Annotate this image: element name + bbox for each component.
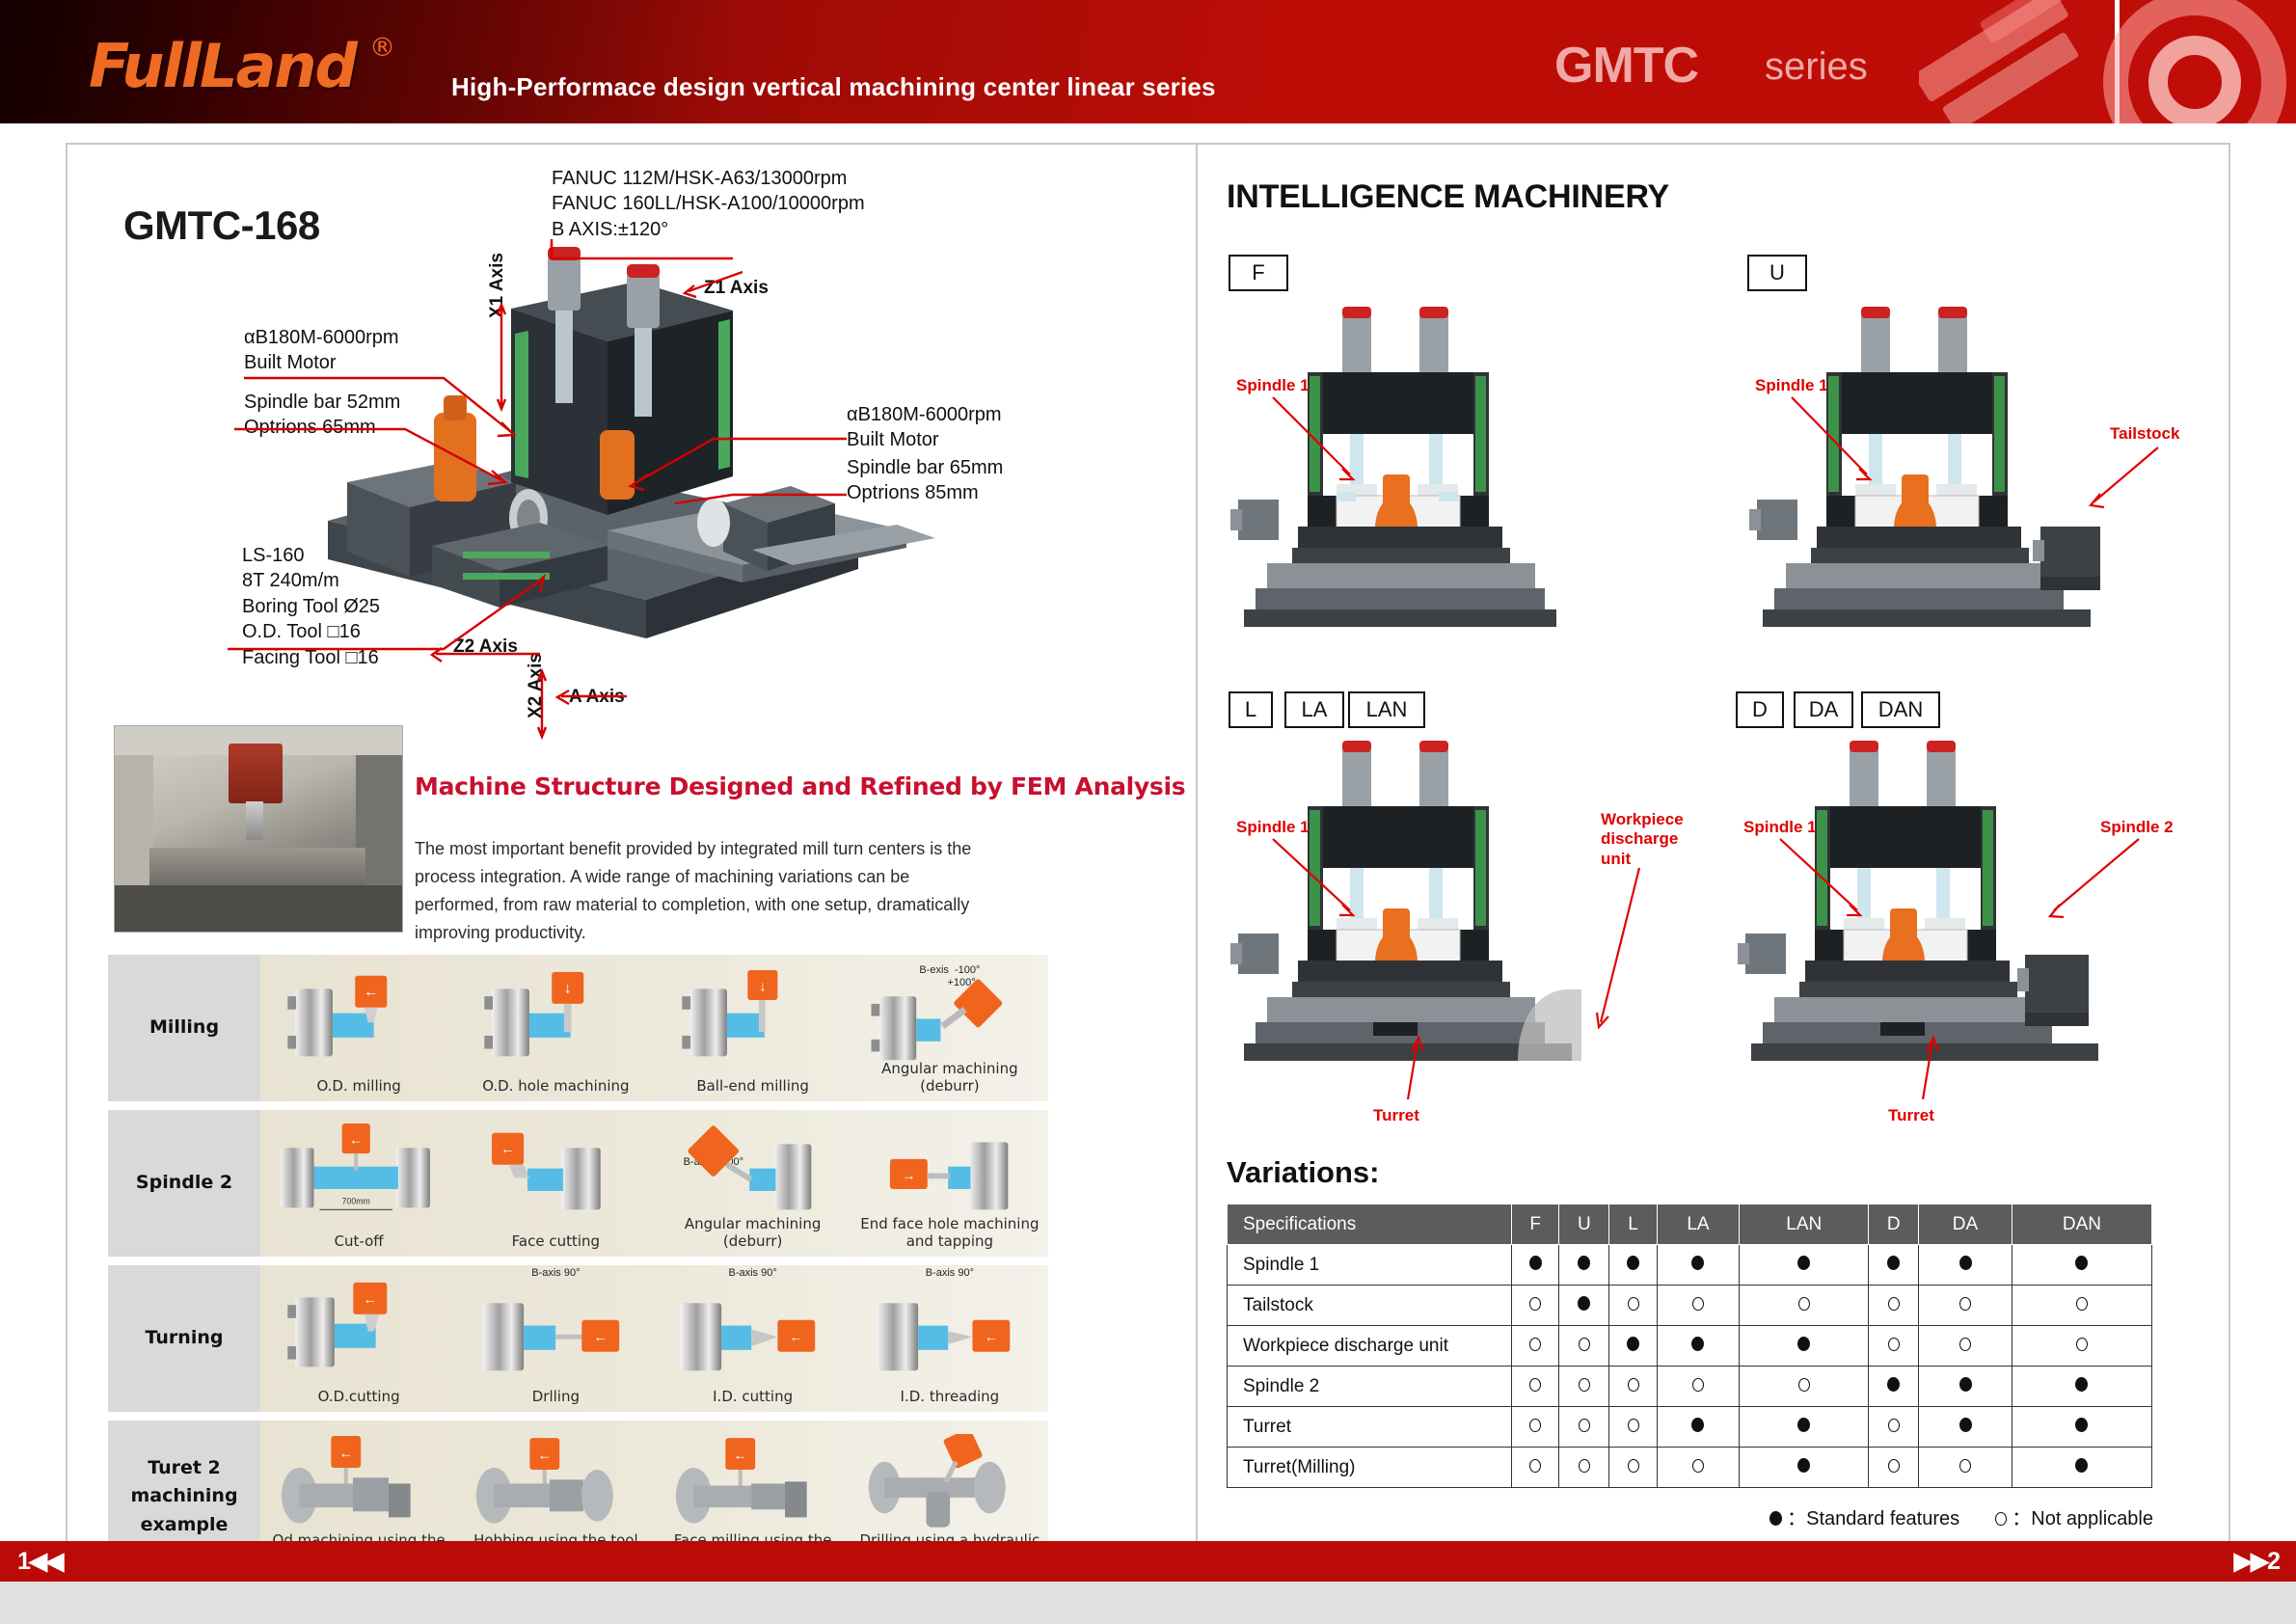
variations-cell-not-applicable <box>1512 1367 1559 1407</box>
open-dot-icon <box>1529 1419 1541 1432</box>
variations-cell-standard <box>1740 1326 1869 1367</box>
operation-caption: O.D. milling <box>316 1077 400 1096</box>
operation-cell: ← O.D. milling <box>260 955 457 1101</box>
filled-dot-icon <box>2075 1256 2088 1270</box>
cutoff-dimension: 700mm <box>342 1197 370 1206</box>
svg-text:→: → <box>902 1168 916 1183</box>
variant-code-f: F <box>1229 255 1288 291</box>
filled-dot-icon <box>1797 1458 1810 1473</box>
variations-spec-label: Tailstock <box>1228 1286 1512 1326</box>
variant-code-d: D <box>1736 691 1784 728</box>
variations-cell-not-applicable <box>2012 1286 2151 1326</box>
svg-text:←: ← <box>339 1447 353 1462</box>
registered-trademark-icon: ® <box>369 33 395 63</box>
fem-body-text: The most important benefit provided by i… <box>415 835 993 948</box>
variant-code-da: DA <box>1794 691 1853 728</box>
table-row: Turret <box>1228 1407 2152 1448</box>
variations-cell-not-applicable <box>1740 1286 1869 1326</box>
operation-cell: ← O.D.cutting <box>260 1265 457 1412</box>
variations-cell-not-applicable <box>1869 1448 1919 1488</box>
variations-col-lan: LAN <box>1740 1204 1869 1245</box>
variations-cell-standard <box>1609 1245 1657 1286</box>
page-number-right: 2 <box>2267 1548 2279 1575</box>
operation-caption: I.D. threading <box>901 1388 1000 1406</box>
open-dot-icon <box>1798 1378 1810 1392</box>
legend-filled-dot-icon <box>1769 1511 1782 1526</box>
operation-cell: B-axis 90° ← Drlling <box>457 1265 654 1412</box>
variations-cell-standard <box>1657 1326 1740 1367</box>
svg-text:←: ← <box>349 1132 364 1148</box>
filled-dot-icon <box>1578 1296 1590 1311</box>
variations-cell-standard <box>1919 1245 2012 1286</box>
variations-legend: ：Standard features ：Not applicable <box>1769 1502 2153 1530</box>
svg-text:↓: ↓ <box>564 980 572 996</box>
fem-heading: Machine Structure Designed and Refined b… <box>415 771 1185 802</box>
open-dot-icon <box>1529 1378 1541 1392</box>
operation-cell: ↓ O.D. hole machining <box>457 955 654 1101</box>
filled-dot-icon <box>1797 1418 1810 1432</box>
open-dot-icon <box>1529 1297 1541 1311</box>
variations-cell-not-applicable <box>1869 1286 1919 1326</box>
variations-cell-not-applicable <box>1609 1367 1657 1407</box>
brochure-page: FullLand ® High-Performace design vertic… <box>0 0 2296 1624</box>
open-dot-icon <box>2076 1338 2088 1351</box>
variations-cell-not-applicable <box>1559 1407 1609 1448</box>
machining-operations-table: Milling <box>108 955 1048 1582</box>
svg-text:←: ← <box>984 1330 998 1345</box>
open-dot-icon <box>1579 1459 1590 1473</box>
variations-col-f: F <box>1512 1204 1559 1245</box>
operation-caption: O.D.cutting <box>318 1388 400 1406</box>
variations-col-l: L <box>1609 1204 1657 1245</box>
filled-dot-icon <box>1691 1337 1704 1351</box>
variations-cell-not-applicable <box>1559 1326 1609 1367</box>
variations-cell-not-applicable <box>1512 1326 1559 1367</box>
table-row: Workpiece discharge unit <box>1228 1326 2152 1367</box>
filled-dot-icon <box>1691 1256 1704 1270</box>
variations-cell-standard <box>1740 1407 1869 1448</box>
diagram-d-label-spindle-2: Spindle 2 <box>2100 818 2174 837</box>
open-dot-icon <box>1579 1338 1590 1351</box>
diagram-u-label-spindle-1: Spindle 1 <box>1755 376 1828 395</box>
variations-cell-standard <box>1657 1407 1740 1448</box>
table-row: Spindle 1 <box>1228 1245 2152 1286</box>
filled-dot-icon <box>1797 1256 1810 1270</box>
svg-text:←: ← <box>594 1330 608 1345</box>
variations-cell-not-applicable <box>1919 1326 2012 1367</box>
open-dot-icon <box>1692 1378 1704 1392</box>
gear-decoration-icon <box>2074 0 2296 123</box>
variations-cell-not-applicable <box>1657 1286 1740 1326</box>
filled-dot-icon <box>2075 1418 2088 1432</box>
variations-spec-label: Turret(Milling) <box>1228 1448 1512 1488</box>
open-dot-icon <box>1888 1338 1900 1351</box>
header-tagline: High-Performace design vertical machinin… <box>451 72 1216 102</box>
variations-cell-not-applicable <box>1609 1286 1657 1326</box>
variations-cell-standard <box>1869 1367 1919 1407</box>
operations-row: Turning ← O.D.cutting <box>108 1265 1048 1412</box>
open-dot-icon <box>1628 1297 1639 1311</box>
open-dot-icon <box>1579 1378 1590 1392</box>
variations-col-la: LA <box>1657 1204 1740 1245</box>
diagram-l-label-spindle-1: Spindle 1 <box>1236 818 1310 837</box>
company-logo: FullLand <box>89 31 356 101</box>
variations-cell-not-applicable <box>1512 1407 1559 1448</box>
variations-cell-not-applicable <box>1609 1407 1657 1448</box>
legend-open-dot-icon <box>1995 1512 2007 1526</box>
variations-cell-standard <box>1740 1245 1869 1286</box>
variations-cell-not-applicable <box>1919 1448 2012 1488</box>
panel-divider <box>1196 143 1198 1558</box>
variations-col-u: U <box>1559 1204 1609 1245</box>
variant-code-u: U <box>1747 255 1807 291</box>
diagram-l-label-workpiece-discharge-unit: Workpiece discharge unit <box>1601 810 1684 869</box>
variations-col-dan: DAN <box>2012 1204 2151 1245</box>
open-dot-icon <box>1959 1338 1971 1351</box>
filled-dot-icon <box>1959 1377 1972 1392</box>
variations-cell-standard <box>1559 1286 1609 1326</box>
operation-cell: ← Face cutting <box>457 1110 654 1257</box>
open-dot-icon <box>1628 1419 1639 1432</box>
filled-dot-icon <box>1627 1256 1639 1270</box>
operations-row-label: Milling <box>108 955 260 1101</box>
filled-dot-icon <box>1691 1418 1704 1432</box>
prev-page-control[interactable]: 1◀◀ <box>17 1547 62 1576</box>
open-dot-icon <box>1579 1419 1590 1432</box>
diagram-f-label-spindle-1: Spindle 1 <box>1236 376 1310 395</box>
open-dot-icon <box>1888 1459 1900 1473</box>
variant-code-dan: DAN <box>1861 691 1940 728</box>
svg-text:←: ← <box>538 1448 552 1464</box>
section-title-intelligence-machinery: INTELLIGENCE MACHINERY <box>1227 178 1669 216</box>
variations-spec-label: Workpiece discharge unit <box>1228 1326 1512 1367</box>
series-subtitle: series <box>1765 45 1868 89</box>
variations-cell-not-applicable <box>1869 1326 1919 1367</box>
footer-strip <box>0 1582 2296 1624</box>
open-dot-icon <box>1959 1297 1971 1311</box>
variations-cell-standard <box>1919 1367 2012 1407</box>
variations-cell-not-applicable <box>1657 1367 1740 1407</box>
variations-cell-not-applicable <box>1512 1448 1559 1488</box>
operation-caption: O.D. hole machining <box>482 1077 629 1096</box>
variations-cell-not-applicable <box>1559 1367 1609 1407</box>
variations-cell-standard <box>1740 1448 1869 1488</box>
variations-cell-not-applicable <box>1919 1286 2012 1326</box>
operation-cell: B-exis -100° +100° <box>851 955 1048 1101</box>
variations-cell-standard <box>2012 1245 2151 1286</box>
variations-cell-standard <box>2012 1407 2151 1448</box>
open-dot-icon <box>1959 1459 1971 1473</box>
diagram-d-label-spindle-1: Spindle 1 <box>1743 818 1817 837</box>
filled-dot-icon <box>1797 1337 1810 1351</box>
next-page-control[interactable]: ▶▶2 <box>2234 1547 2279 1576</box>
series-title: GMTC <box>1554 37 1698 95</box>
filled-dot-icon <box>1959 1418 1972 1432</box>
svg-text:←: ← <box>789 1330 803 1345</box>
variations-cell-not-applicable <box>2012 1326 2151 1367</box>
variations-cell-standard <box>1559 1245 1609 1286</box>
operations-row-label: Turning <box>108 1265 260 1412</box>
operation-cell: B-axis 90° ← I.D. cutting <box>655 1265 851 1412</box>
page-footer: 1◀◀ ▶▶2 <box>0 1541 2296 1582</box>
variations-cell-standard <box>2012 1367 2151 1407</box>
operation-caption: Drlling <box>532 1388 580 1406</box>
variations-spec-label: Spindle 1 <box>1228 1245 1512 1286</box>
operation-note: B-axis 90° <box>457 1267 654 1280</box>
variant-code-lan: LAN <box>1348 691 1425 728</box>
operation-caption: Cut-off <box>335 1232 384 1251</box>
variations-cell-standard <box>2012 1448 2151 1488</box>
filled-dot-icon <box>1578 1256 1590 1270</box>
operations-row: Spindle 2 ← 700mm <box>108 1110 1048 1257</box>
machine-diagram-l <box>1229 733 1691 1099</box>
variations-cell-standard <box>1657 1245 1740 1286</box>
variations-col-d: D <box>1869 1204 1919 1245</box>
open-dot-icon <box>1692 1459 1704 1473</box>
variant-code-l: L <box>1229 691 1273 728</box>
table-row: Tailstock <box>1228 1286 2152 1326</box>
table-row: Spindle 2 <box>1228 1367 2152 1407</box>
page-title: GMTC-168 <box>123 203 320 249</box>
operation-caption: I.D. cutting <box>713 1388 793 1406</box>
operation-caption: Ball-end milling <box>696 1077 809 1096</box>
variations-table-header-row: Specifications F U L LA LAN D DA DAN <box>1228 1204 2152 1245</box>
diagram-d-label-turret: Turret <box>1888 1106 1934 1125</box>
machine-diagram-u <box>1747 299 2210 646</box>
machine-diagram-f <box>1229 299 1682 646</box>
variations-cell-not-applicable <box>1512 1286 1559 1326</box>
svg-text:←: ← <box>501 1142 516 1157</box>
variations-title: Variations: <box>1227 1155 1380 1190</box>
page-number-left: 1 <box>17 1548 29 1575</box>
variations-spec-label: Turret <box>1228 1407 1512 1448</box>
operation-cell: ↓ Ball-end milling <box>655 955 851 1101</box>
open-dot-icon <box>1529 1459 1541 1473</box>
filled-dot-icon <box>2075 1458 2088 1473</box>
table-row: Turret(Milling) <box>1228 1448 2152 1488</box>
variations-col-specifications: Specifications <box>1228 1204 1512 1245</box>
filled-dot-icon <box>1887 1377 1900 1392</box>
open-dot-icon <box>2076 1297 2088 1311</box>
variations-table: Specifications F U L LA LAN D DA DAN Spi… <box>1227 1204 2152 1488</box>
operations-row-label: Spindle 2 <box>108 1110 260 1257</box>
filled-dot-icon <box>2075 1377 2088 1392</box>
machine-photo <box>114 725 403 933</box>
operation-caption: Face cutting <box>512 1232 600 1251</box>
open-dot-icon <box>1529 1338 1541 1351</box>
operation-cell: → End face hole machining and tapping <box>851 1110 1048 1257</box>
operation-cell: B-axis ±100° Angular machining (deburr) <box>655 1110 851 1257</box>
operation-note: B-axis 90° <box>655 1267 851 1280</box>
machine-diagram-d <box>1736 733 2218 1099</box>
operations-row: Milling <box>108 955 1048 1101</box>
variations-cell-not-applicable <box>1740 1367 1869 1407</box>
open-dot-icon <box>1692 1297 1704 1311</box>
svg-text:↓: ↓ <box>759 979 766 994</box>
variations-cell-standard <box>1512 1245 1559 1286</box>
open-dot-icon <box>1888 1419 1900 1432</box>
diagram-l-label-turret: Turret <box>1373 1106 1419 1125</box>
operation-cell: B-axis 90° ← I.D. threading <box>851 1265 1048 1412</box>
annotation-fanuc-spec: FANUC 112M/HSK-A63/13000rpm FANUC 160LL/… <box>552 166 865 242</box>
legend-standard-text: Standard features <box>1806 1508 1959 1529</box>
variant-code-la: LA <box>1284 691 1344 728</box>
operation-note: B-axis 90° <box>851 1267 1048 1280</box>
variations-cell-not-applicable <box>1869 1407 1919 1448</box>
open-dot-icon <box>1628 1378 1639 1392</box>
filled-dot-icon <box>1627 1337 1639 1351</box>
open-dot-icon <box>1888 1297 1900 1311</box>
variations-cell-standard <box>1609 1326 1657 1367</box>
open-dot-icon <box>1628 1459 1639 1473</box>
variations-col-da: DA <box>1919 1204 2012 1245</box>
filled-dot-icon <box>1529 1256 1542 1270</box>
variations-cell-standard <box>1919 1407 2012 1448</box>
filled-dot-icon <box>1887 1256 1900 1270</box>
svg-text:←: ← <box>364 1292 378 1308</box>
machine-render-3d <box>318 241 935 694</box>
svg-text:←: ← <box>733 1448 746 1464</box>
svg-text:←: ← <box>364 984 379 1000</box>
variations-spec-label: Spindle 2 <box>1228 1367 1512 1407</box>
legend-na-text: Not applicable <box>2031 1508 2153 1529</box>
filled-dot-icon <box>1959 1256 1972 1270</box>
open-dot-icon <box>1798 1297 1810 1311</box>
page-header: FullLand ® High-Performace design vertic… <box>0 0 2296 123</box>
variations-cell-standard <box>1869 1245 1919 1286</box>
variations-cell-not-applicable <box>1609 1448 1657 1488</box>
variations-cell-not-applicable <box>1657 1448 1740 1488</box>
diagram-u-label-tailstock: Tailstock <box>2110 424 2179 444</box>
operation-cell: ← 700mm Cut-off <box>260 1110 457 1257</box>
variations-cell-not-applicable <box>1559 1448 1609 1488</box>
